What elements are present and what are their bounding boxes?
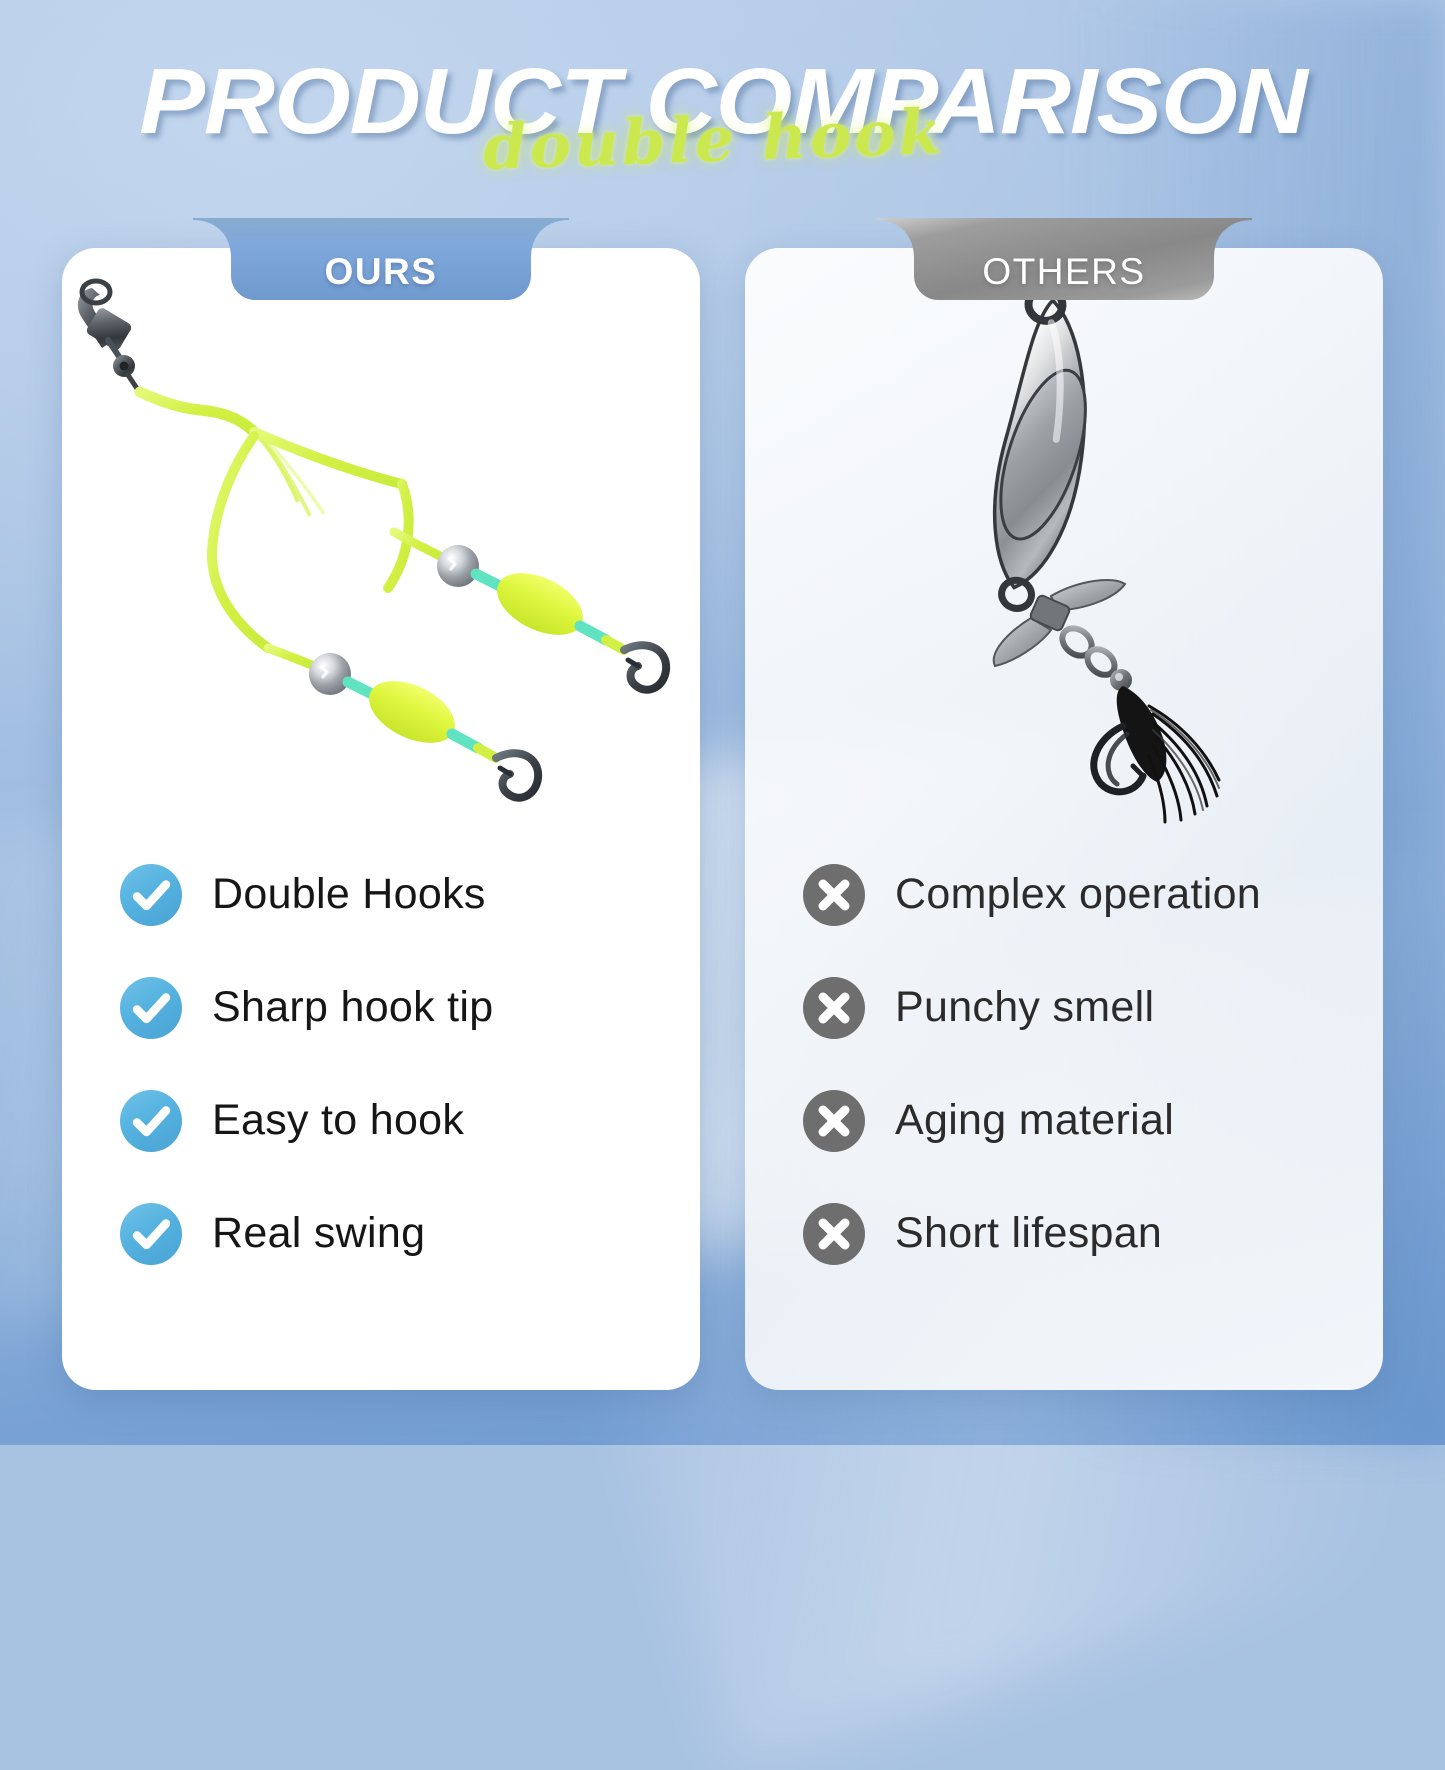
cross-icon (803, 1090, 865, 1152)
badge-ours-shape (231, 218, 531, 300)
feature-row: Sharp hook tip (120, 951, 642, 1064)
product-image-ours (62, 270, 700, 850)
feature-row: Short lifespan (803, 1177, 1325, 1290)
badge-ours: OURS (231, 218, 531, 300)
feature-row: Easy to hook (120, 1064, 642, 1177)
feature-list-others: Complex operation Punchy smell Aging mat… (745, 838, 1383, 1290)
check-icon (120, 1203, 182, 1265)
product-image-others (745, 270, 1383, 850)
page-subtitle: double hook (481, 95, 945, 184)
fly-lure (1094, 686, 1219, 822)
feature-label: Short lifespan (895, 1209, 1162, 1258)
feature-list-ours: Double Hooks Sharp hook tip Easy to hook… (62, 838, 700, 1290)
check-icon (120, 864, 182, 926)
feature-row: Double Hooks (120, 838, 642, 951)
feature-label: Complex operation (895, 870, 1261, 919)
feature-label: Punchy smell (895, 983, 1154, 1032)
check-icon (120, 1090, 182, 1152)
cross-icon (803, 977, 865, 1039)
bead-upper (437, 545, 479, 587)
badge-others: OTHERS (914, 218, 1214, 300)
snap-swivel-icon (78, 281, 138, 390)
feature-row: Punchy smell (803, 951, 1325, 1064)
hook-lower (496, 753, 538, 797)
feature-label: Double Hooks (212, 870, 486, 919)
float-upper (487, 560, 592, 647)
feature-row: Aging material (803, 1064, 1325, 1177)
double-hook-rig-illustration (62, 270, 700, 850)
hook-upper (624, 645, 666, 689)
feature-label: Real swing (212, 1209, 425, 1258)
spoon-spinner-illustration (745, 270, 1383, 850)
bead-lower (309, 653, 351, 695)
feature-row: Real swing (120, 1177, 642, 1290)
cross-icon (803, 1203, 865, 1265)
feature-label: Sharp hook tip (212, 983, 494, 1032)
feature-label: Easy to hook (212, 1096, 464, 1145)
comparison-card-ours: OURS (62, 248, 700, 1390)
feature-row: Complex operation (803, 838, 1325, 951)
float-lower (359, 668, 464, 755)
check-icon (120, 977, 182, 1039)
badge-others-shape (914, 218, 1214, 300)
header: PRODUCT COMPARISON double hook (0, 0, 1445, 210)
cross-icon (803, 864, 865, 926)
chain-links (1057, 623, 1132, 691)
comparison-card-others: OTHERS (745, 248, 1383, 1390)
feature-label: Aging material (895, 1096, 1174, 1145)
